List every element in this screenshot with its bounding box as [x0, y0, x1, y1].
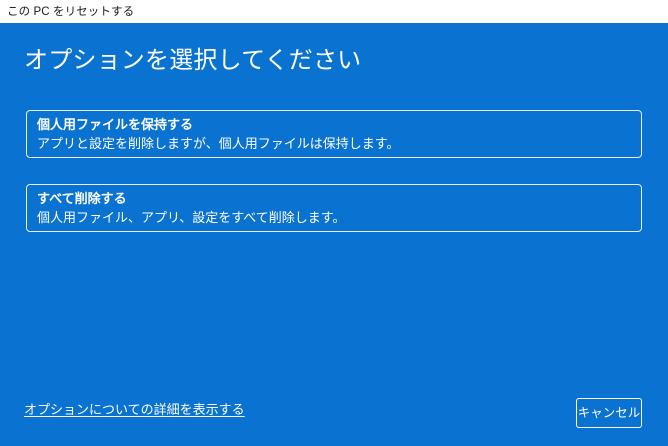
option-keep-my-files[interactable]: 個人用ファイルを保持する アプリと設定を削除しますが、個人用ファイルは保持します…	[26, 110, 642, 158]
reset-pc-window: この PC をリセットする オプションを選択してください 個人用ファイルを保持す…	[0, 0, 668, 446]
footer: オプションについての詳細を表示する キャンセル	[0, 389, 668, 446]
options-list: 個人用ファイルを保持する アプリと設定を削除しますが、個人用ファイルは保持します…	[26, 110, 642, 232]
window-title: この PC をリセットする	[7, 5, 134, 19]
option-title: 個人用ファイルを保持する	[37, 115, 641, 134]
page-title: オプションを選択してください	[24, 45, 361, 77]
option-remove-everything[interactable]: すべて削除する 個人用ファイル、アプリ、設定をすべて削除します。	[26, 184, 642, 232]
option-description: アプリと設定を削除しますが、個人用ファイルは保持します。	[37, 134, 641, 153]
cancel-button[interactable]: キャンセル	[576, 398, 642, 428]
option-title: すべて削除する	[37, 189, 641, 208]
title-bar: この PC をリセットする	[0, 0, 668, 23]
option-description: 個人用ファイル、アプリ、設定をすべて削除します。	[37, 208, 641, 227]
content-surface: オプションを選択してください 個人用ファイルを保持する アプリと設定を削除します…	[0, 23, 668, 446]
more-info-link[interactable]: オプションについての詳細を表示する	[24, 401, 245, 419]
